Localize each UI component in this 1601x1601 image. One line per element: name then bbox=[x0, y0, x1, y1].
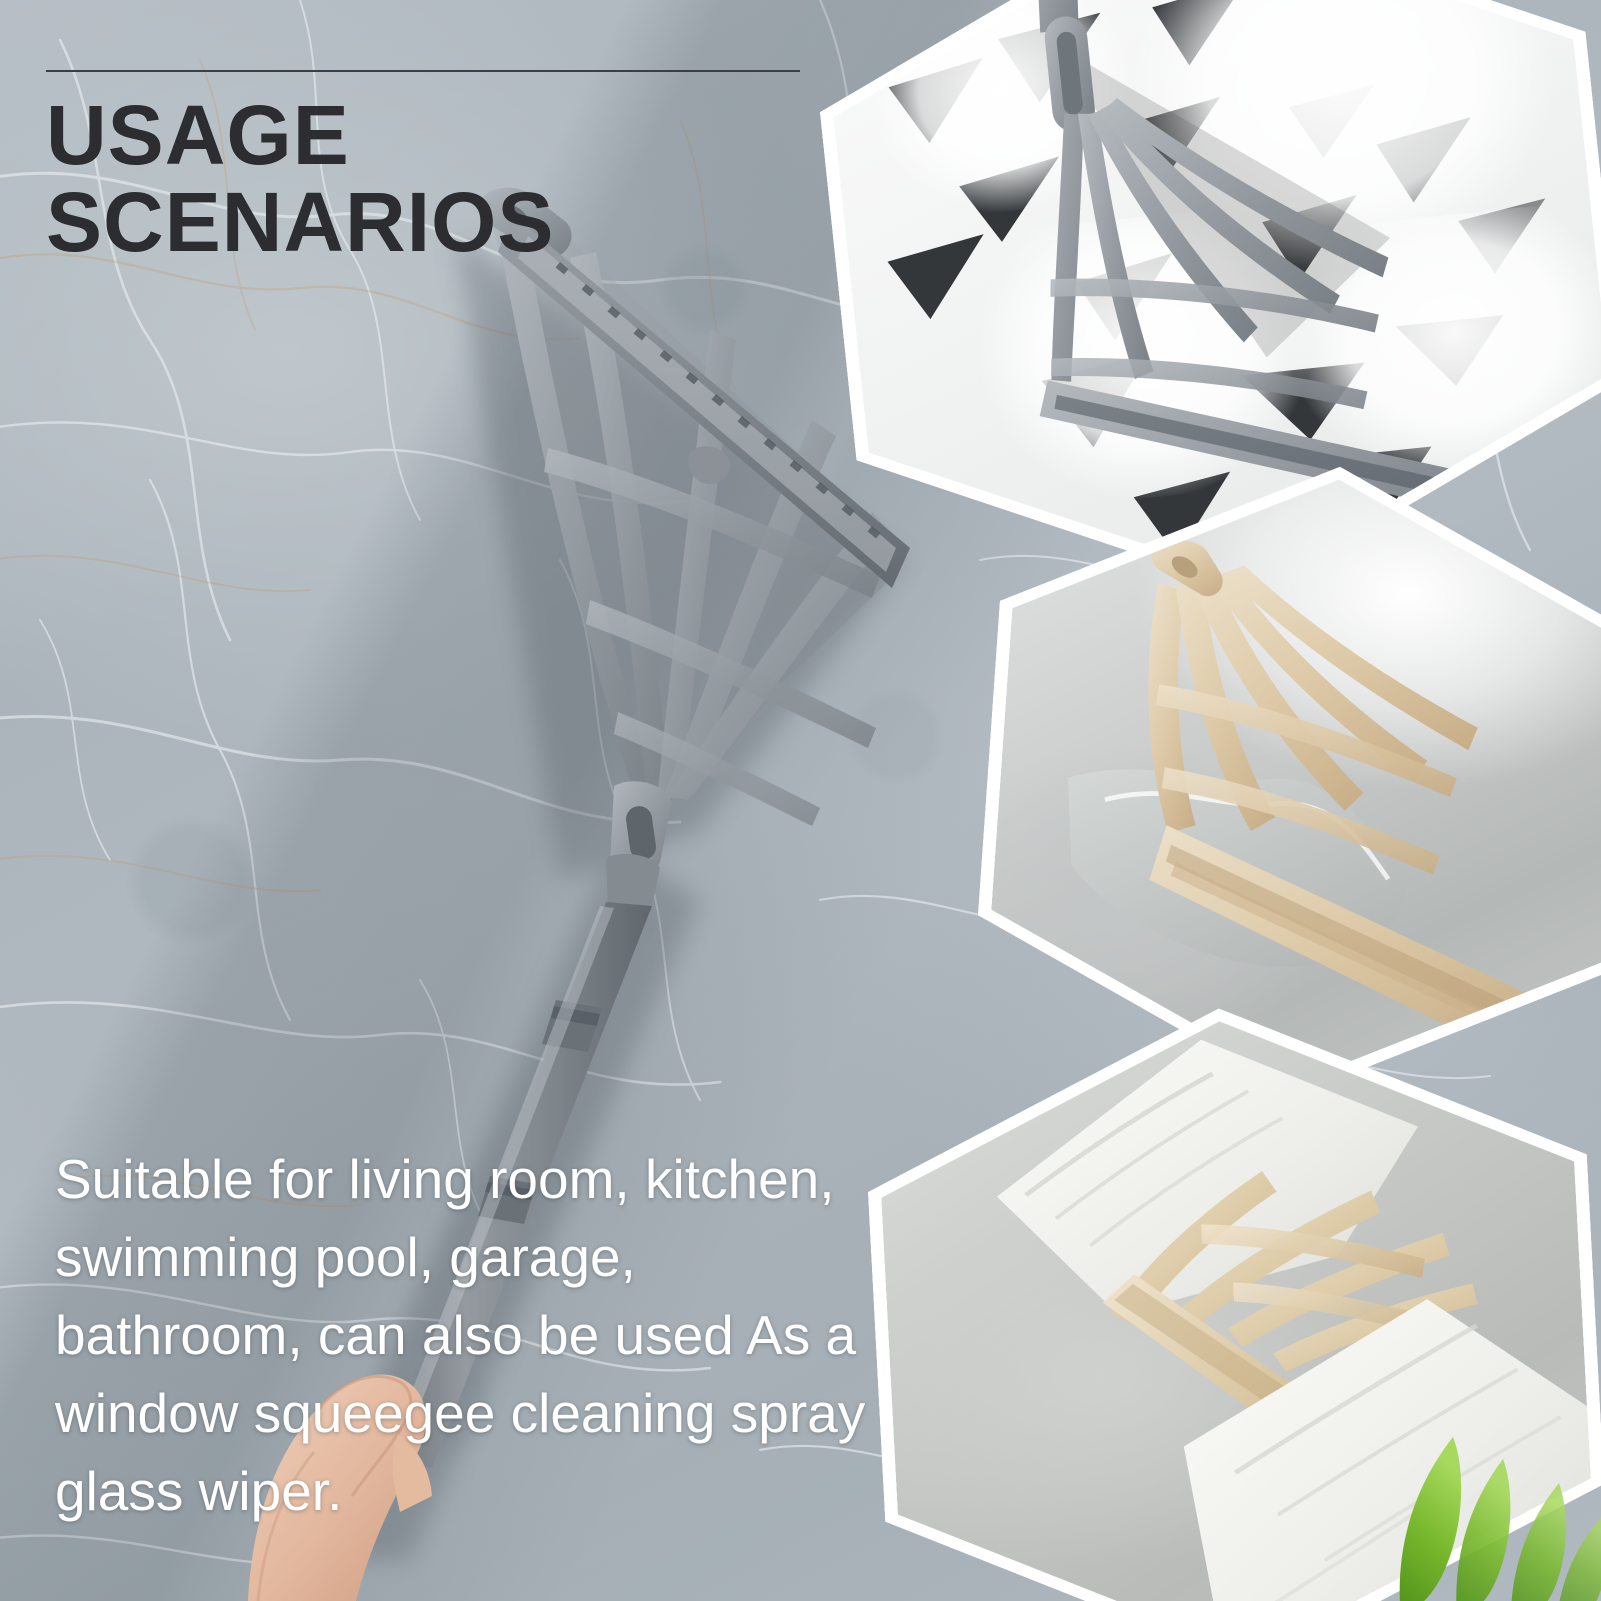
title-line-2: SCENARIOS bbox=[46, 179, 866, 266]
plant-leaves-decor bbox=[1361, 1397, 1601, 1601]
title-line-1: USAGE bbox=[46, 92, 866, 179]
title-divider-rule bbox=[46, 70, 800, 72]
infographic-canvas: USAGE SCENARIOS Suitable for living room… bbox=[0, 0, 1601, 1601]
description-text: Suitable for living room, kitchen, swimm… bbox=[55, 1140, 885, 1530]
page-title: USAGE SCENARIOS bbox=[46, 92, 866, 265]
